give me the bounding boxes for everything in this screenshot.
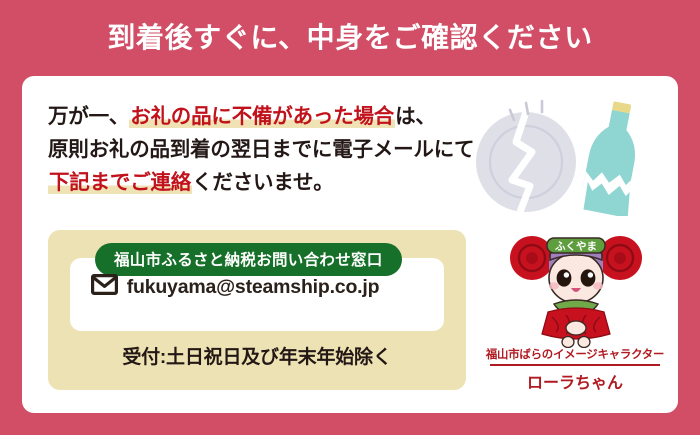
- mascot-name: ローラちゃん: [484, 369, 666, 393]
- damaged-goods-illustration: [454, 94, 664, 216]
- mascot-caption: 福山市ばらのイメージキャラクター: [484, 346, 666, 362]
- mascot-block: ふくやま: [484, 218, 666, 398]
- email-row[interactable]: fukuyama@steamship.co.jp: [48, 274, 422, 300]
- content-card: 万が一、お礼の品に不備があった場合は、 原則お礼の品到着の翌日までに電子メールに…: [22, 76, 678, 413]
- header-banner: 到着後すぐに、中身をご確認ください: [0, 0, 700, 76]
- page-title: 到着後すぐに、中身をご確認ください: [107, 24, 592, 52]
- instruction-paragraph: 万が一、お礼の品に不備があった場合は、 原則お礼の品到着の翌日までに電子メールに…: [48, 100, 498, 200]
- instruction-line-1-prefix: 万が一、: [48, 105, 129, 128]
- instruction-line-2: 原則お礼の品到着の翌日までに電子メールにて: [48, 133, 498, 166]
- instruction-line-3-highlight: 下記までご連絡: [48, 171, 192, 194]
- mascot-divider: [490, 364, 660, 366]
- envelope-icon: [91, 274, 118, 300]
- contact-panel: 福山市ふるさと納税お問い合わせ窓口 fukuyama@steamship.co.…: [48, 230, 466, 390]
- contact-email[interactable]: fukuyama@steamship.co.jp: [127, 276, 380, 299]
- reception-hours: 受付:土日祝日及び年末年始除く: [48, 342, 466, 369]
- instruction-line-3-suffix: くださいませ。: [192, 171, 334, 194]
- arrival-check-notice: 到着後すぐに、中身をご確認ください 万が一、お礼の品に不備があった場合は、 原則…: [0, 0, 700, 435]
- broken-bottle-icon: [583, 101, 644, 216]
- instruction-line-1-highlight: お礼の品に不備があった場合: [129, 105, 395, 128]
- instruction-line-1: 万が一、お礼の品に不備があった場合は、: [48, 100, 498, 133]
- instruction-line-1-suffix: は、: [395, 105, 436, 128]
- rose-mascot-icon: ふくやま: [506, 218, 646, 348]
- contact-window-pill: 福山市ふるさと納税お問い合わせ窓口: [95, 243, 402, 276]
- cracked-plate-icon: [476, 101, 576, 212]
- hat-text: ふくやま: [555, 241, 597, 253]
- instruction-line-3: 下記までご連絡くださいませ。: [48, 166, 498, 199]
